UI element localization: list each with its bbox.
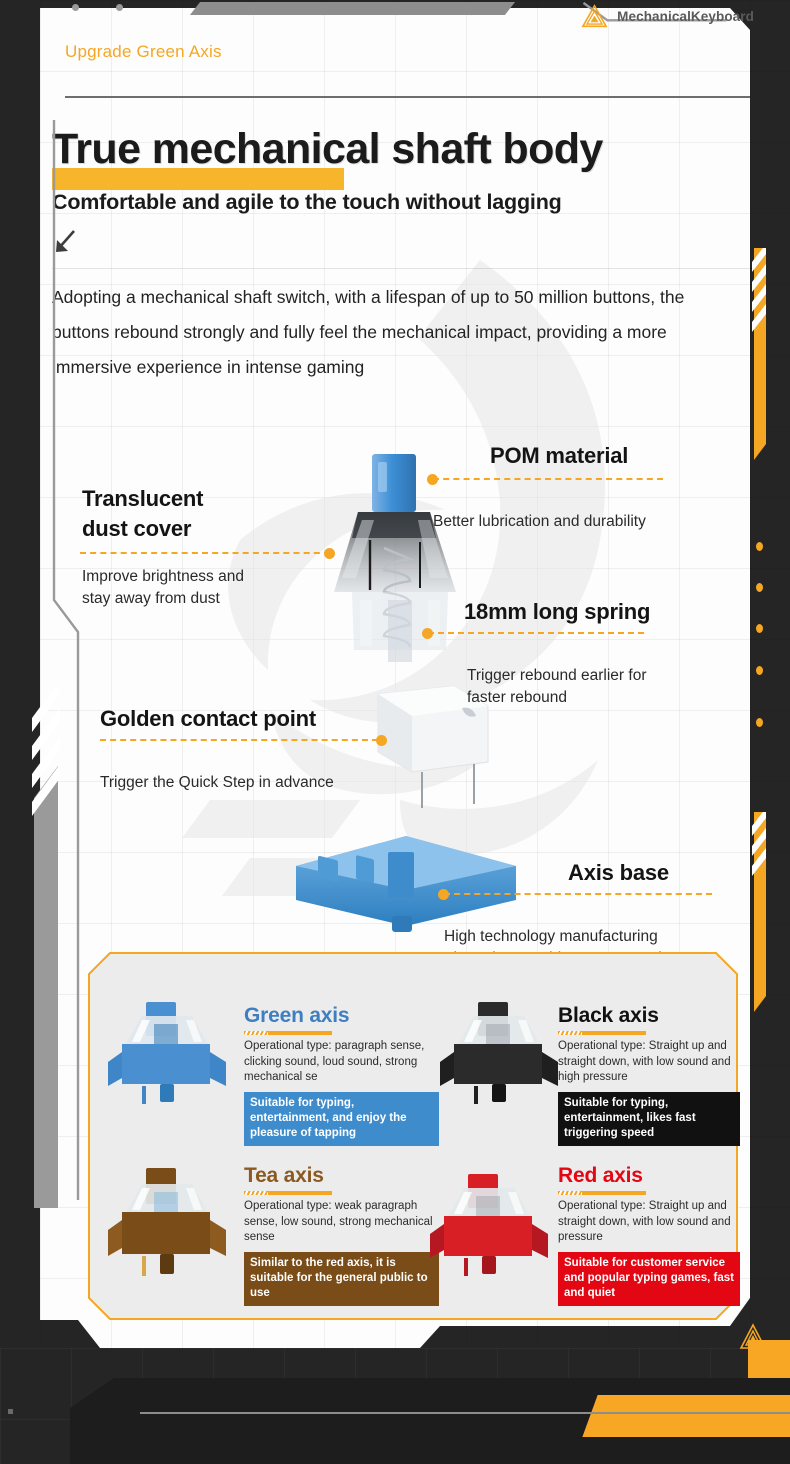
right-dot-5 xyxy=(756,718,763,727)
callout-contact-knob xyxy=(376,735,387,746)
callout-spring-title: 18mm long spring xyxy=(464,599,650,625)
callout-dust-dash xyxy=(80,552,330,554)
switch-render-black xyxy=(428,1000,568,1110)
brand-name: MechanicalKeyboard xyxy=(617,9,754,24)
kicker-text: Upgrade Green Axis xyxy=(65,42,222,62)
callout-spring: 18mm long spring Trigger rebound earlier… xyxy=(464,599,650,709)
callout-spring-sub-1: Trigger rebound earlier for xyxy=(467,665,650,687)
switch-render-red xyxy=(418,1172,558,1282)
footer-orange-shape xyxy=(582,1395,790,1437)
callout-base-knob xyxy=(438,889,449,900)
cell-green-title: Green axis xyxy=(244,1004,439,1028)
triangle-logo-icon xyxy=(581,4,608,29)
switch-render-tea xyxy=(96,1166,236,1281)
cell-green: Green axis Operational type: paragraph s… xyxy=(244,1004,439,1146)
callout-dust-title-1: Translucent xyxy=(82,486,244,512)
cell-red-rule xyxy=(558,1191,646,1195)
cell-tea-desc: Operational type: weak paragraph sense, … xyxy=(244,1199,439,1246)
cell-tea-title: Tea axis xyxy=(244,1164,439,1188)
cell-tea: Tea axis Operational type: weak paragrap… xyxy=(244,1164,439,1306)
brand-logo-group: MechanicalKeyboard xyxy=(581,4,754,29)
callout-dust-knob xyxy=(324,548,335,559)
top-dot-2 xyxy=(116,4,123,11)
footer-dot xyxy=(8,1409,13,1414)
callout-pom-dash xyxy=(433,478,663,480)
switch-render-green xyxy=(96,1000,236,1110)
callout-pom-knob xyxy=(427,474,438,485)
right-dot-3 xyxy=(756,624,763,633)
page-title-wrap: True mechanical shaft body xyxy=(52,128,752,171)
page-subtitle: Comfortable and agile to the touch witho… xyxy=(52,190,562,215)
page-title: True mechanical shaft body xyxy=(52,128,752,171)
body-paragraph: Adopting a mechanical shaft switch, with… xyxy=(52,280,724,385)
callout-pom: POM material Better lubrication and dura… xyxy=(490,443,646,533)
callout-contact: Golden contact point Trigger the Quick S… xyxy=(100,706,334,794)
cell-red: Red axis Operational type: Straight up a… xyxy=(558,1164,740,1306)
axis-base-render xyxy=(288,822,524,934)
right-dot-4 xyxy=(756,666,763,675)
cell-green-desc: Operational type: paragraph sense, click… xyxy=(244,1039,439,1086)
cell-red-title: Red axis xyxy=(558,1164,740,1188)
callout-base-dash xyxy=(444,893,712,895)
callout-pom-sub: Better lubrication and durability xyxy=(433,511,646,533)
cell-black-desc: Operational type: Straight up and straig… xyxy=(558,1039,740,1086)
callout-spring-dash xyxy=(428,632,644,634)
top-dot-1 xyxy=(72,4,79,11)
callout-dust-title-2: dust cover xyxy=(82,516,244,542)
cell-black: Black axis Operational type: Straight up… xyxy=(558,1004,740,1146)
callout-spring-sub-2: faster rebound xyxy=(467,687,650,709)
header-divider xyxy=(65,96,750,98)
cell-green-tag: Suitable for typing, entertainment, and … xyxy=(244,1092,439,1146)
left-striped-bar xyxy=(26,688,72,1208)
cell-black-title: Black axis xyxy=(558,1004,740,1028)
callout-pom-title: POM material xyxy=(490,443,646,469)
callout-base-title: Axis base xyxy=(568,860,669,886)
cell-tea-rule xyxy=(244,1191,332,1195)
cell-tea-tag: Similar to the red axis, it is suitable … xyxy=(244,1252,439,1306)
cell-red-tag: Suitable for customer service and popula… xyxy=(558,1252,740,1306)
cell-black-rule xyxy=(558,1031,646,1035)
cell-green-rule xyxy=(244,1031,332,1035)
callout-dust-sub-2: stay away from dust xyxy=(82,588,244,610)
right-accent-bar xyxy=(744,248,768,460)
right-accent-bar-2 xyxy=(744,812,768,1012)
cell-black-tag: Suitable for typing, entertainment, like… xyxy=(558,1092,740,1146)
callout-spring-knob xyxy=(422,628,433,639)
callout-dust-sub-1: Improve brightness and xyxy=(82,566,244,588)
callout-contact-title: Golden contact point xyxy=(100,706,334,732)
callout-base-sub-1: High technology manufacturing xyxy=(444,926,669,948)
callout-contact-sub: Trigger the Quick Step in advance xyxy=(100,772,334,794)
cell-red-desc: Operational type: Straight up and straig… xyxy=(558,1199,740,1246)
right-dot-1 xyxy=(756,542,763,551)
callout-contact-dash xyxy=(100,739,378,741)
body-divider xyxy=(52,268,752,269)
footer-rule xyxy=(140,1412,790,1414)
right-dot-2 xyxy=(756,583,763,592)
callout-dust-cover: Translucent dust cover Improve brightnes… xyxy=(82,486,244,610)
